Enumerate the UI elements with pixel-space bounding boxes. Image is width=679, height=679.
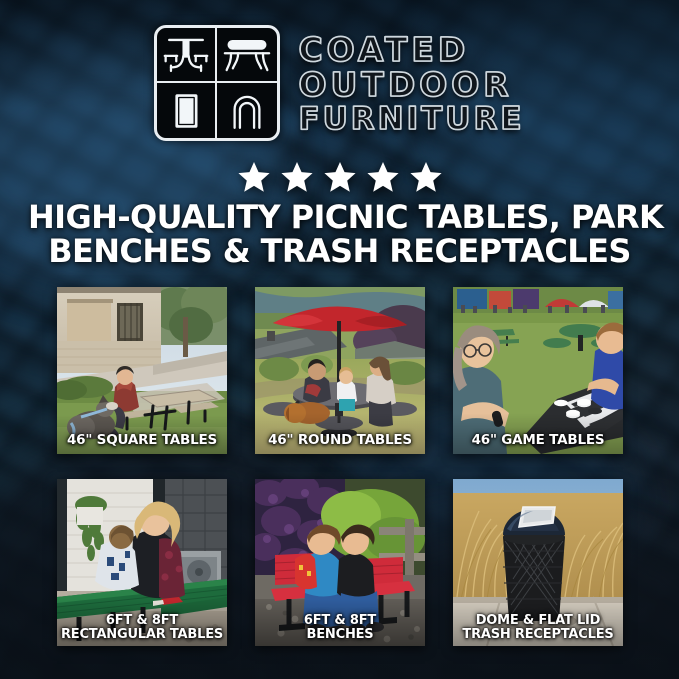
trash-receptacle-icon [157,83,217,138]
product-tile-round-tables[interactable]: 46" ROUND TABLES [255,287,425,454]
headline: HIGH-QUALITY PICNIC TABLES, PARK BENCHES… [28,200,651,268]
product-photo-benches [255,479,425,646]
star-rating [0,160,679,194]
wordmark-line-1: COATED [298,33,524,67]
wordmark-line-3: FURNITURE [298,104,524,136]
park-bench-icon [217,28,277,83]
star-icon [323,160,357,194]
product-photo-square-tables [57,287,227,454]
advertisement-banner: COATED OUTDOOR FURNITURE HIGH-QUALITY PI… [0,0,679,679]
picnic-table-icon [157,28,217,83]
product-grid: 46" SQUARE TABLES [57,287,623,646]
product-tile-square-tables[interactable]: 46" SQUARE TABLES [57,287,227,454]
star-icon [409,160,443,194]
product-photo-round-tables [255,287,425,454]
furniture-quad-logo-icon [154,25,280,141]
product-photo-trash-receptacles [453,479,623,646]
star-icon [237,160,271,194]
brand-wordmark: COATED OUTDOOR FURNITURE [298,31,524,136]
headline-line-1: HIGH-QUALITY PICNIC TABLES, PARK [28,200,651,234]
wordmark-line-2: OUTDOOR [298,68,524,102]
star-icon [366,160,400,194]
star-icon [280,160,314,194]
product-photo-game-tables [453,287,623,454]
product-tile-trash-receptacles[interactable]: DOME & FLAT LID TRASH RECEPTACLES [453,479,623,646]
bike-rack-arch-icon [217,83,277,138]
product-photo-rectangular-tables [57,479,227,646]
product-tile-game-tables[interactable]: 46" GAME TABLES [453,287,623,454]
brand-logo: COATED OUTDOOR FURNITURE [0,25,679,141]
product-tile-benches[interactable]: 6FT & 8FT BENCHES [255,479,425,646]
product-tile-rectangular-tables[interactable]: 6FT & 8FT RECTANGULAR TABLES [57,479,227,646]
headline-line-2: BENCHES & TRASH RECEPTACLES [28,234,651,268]
